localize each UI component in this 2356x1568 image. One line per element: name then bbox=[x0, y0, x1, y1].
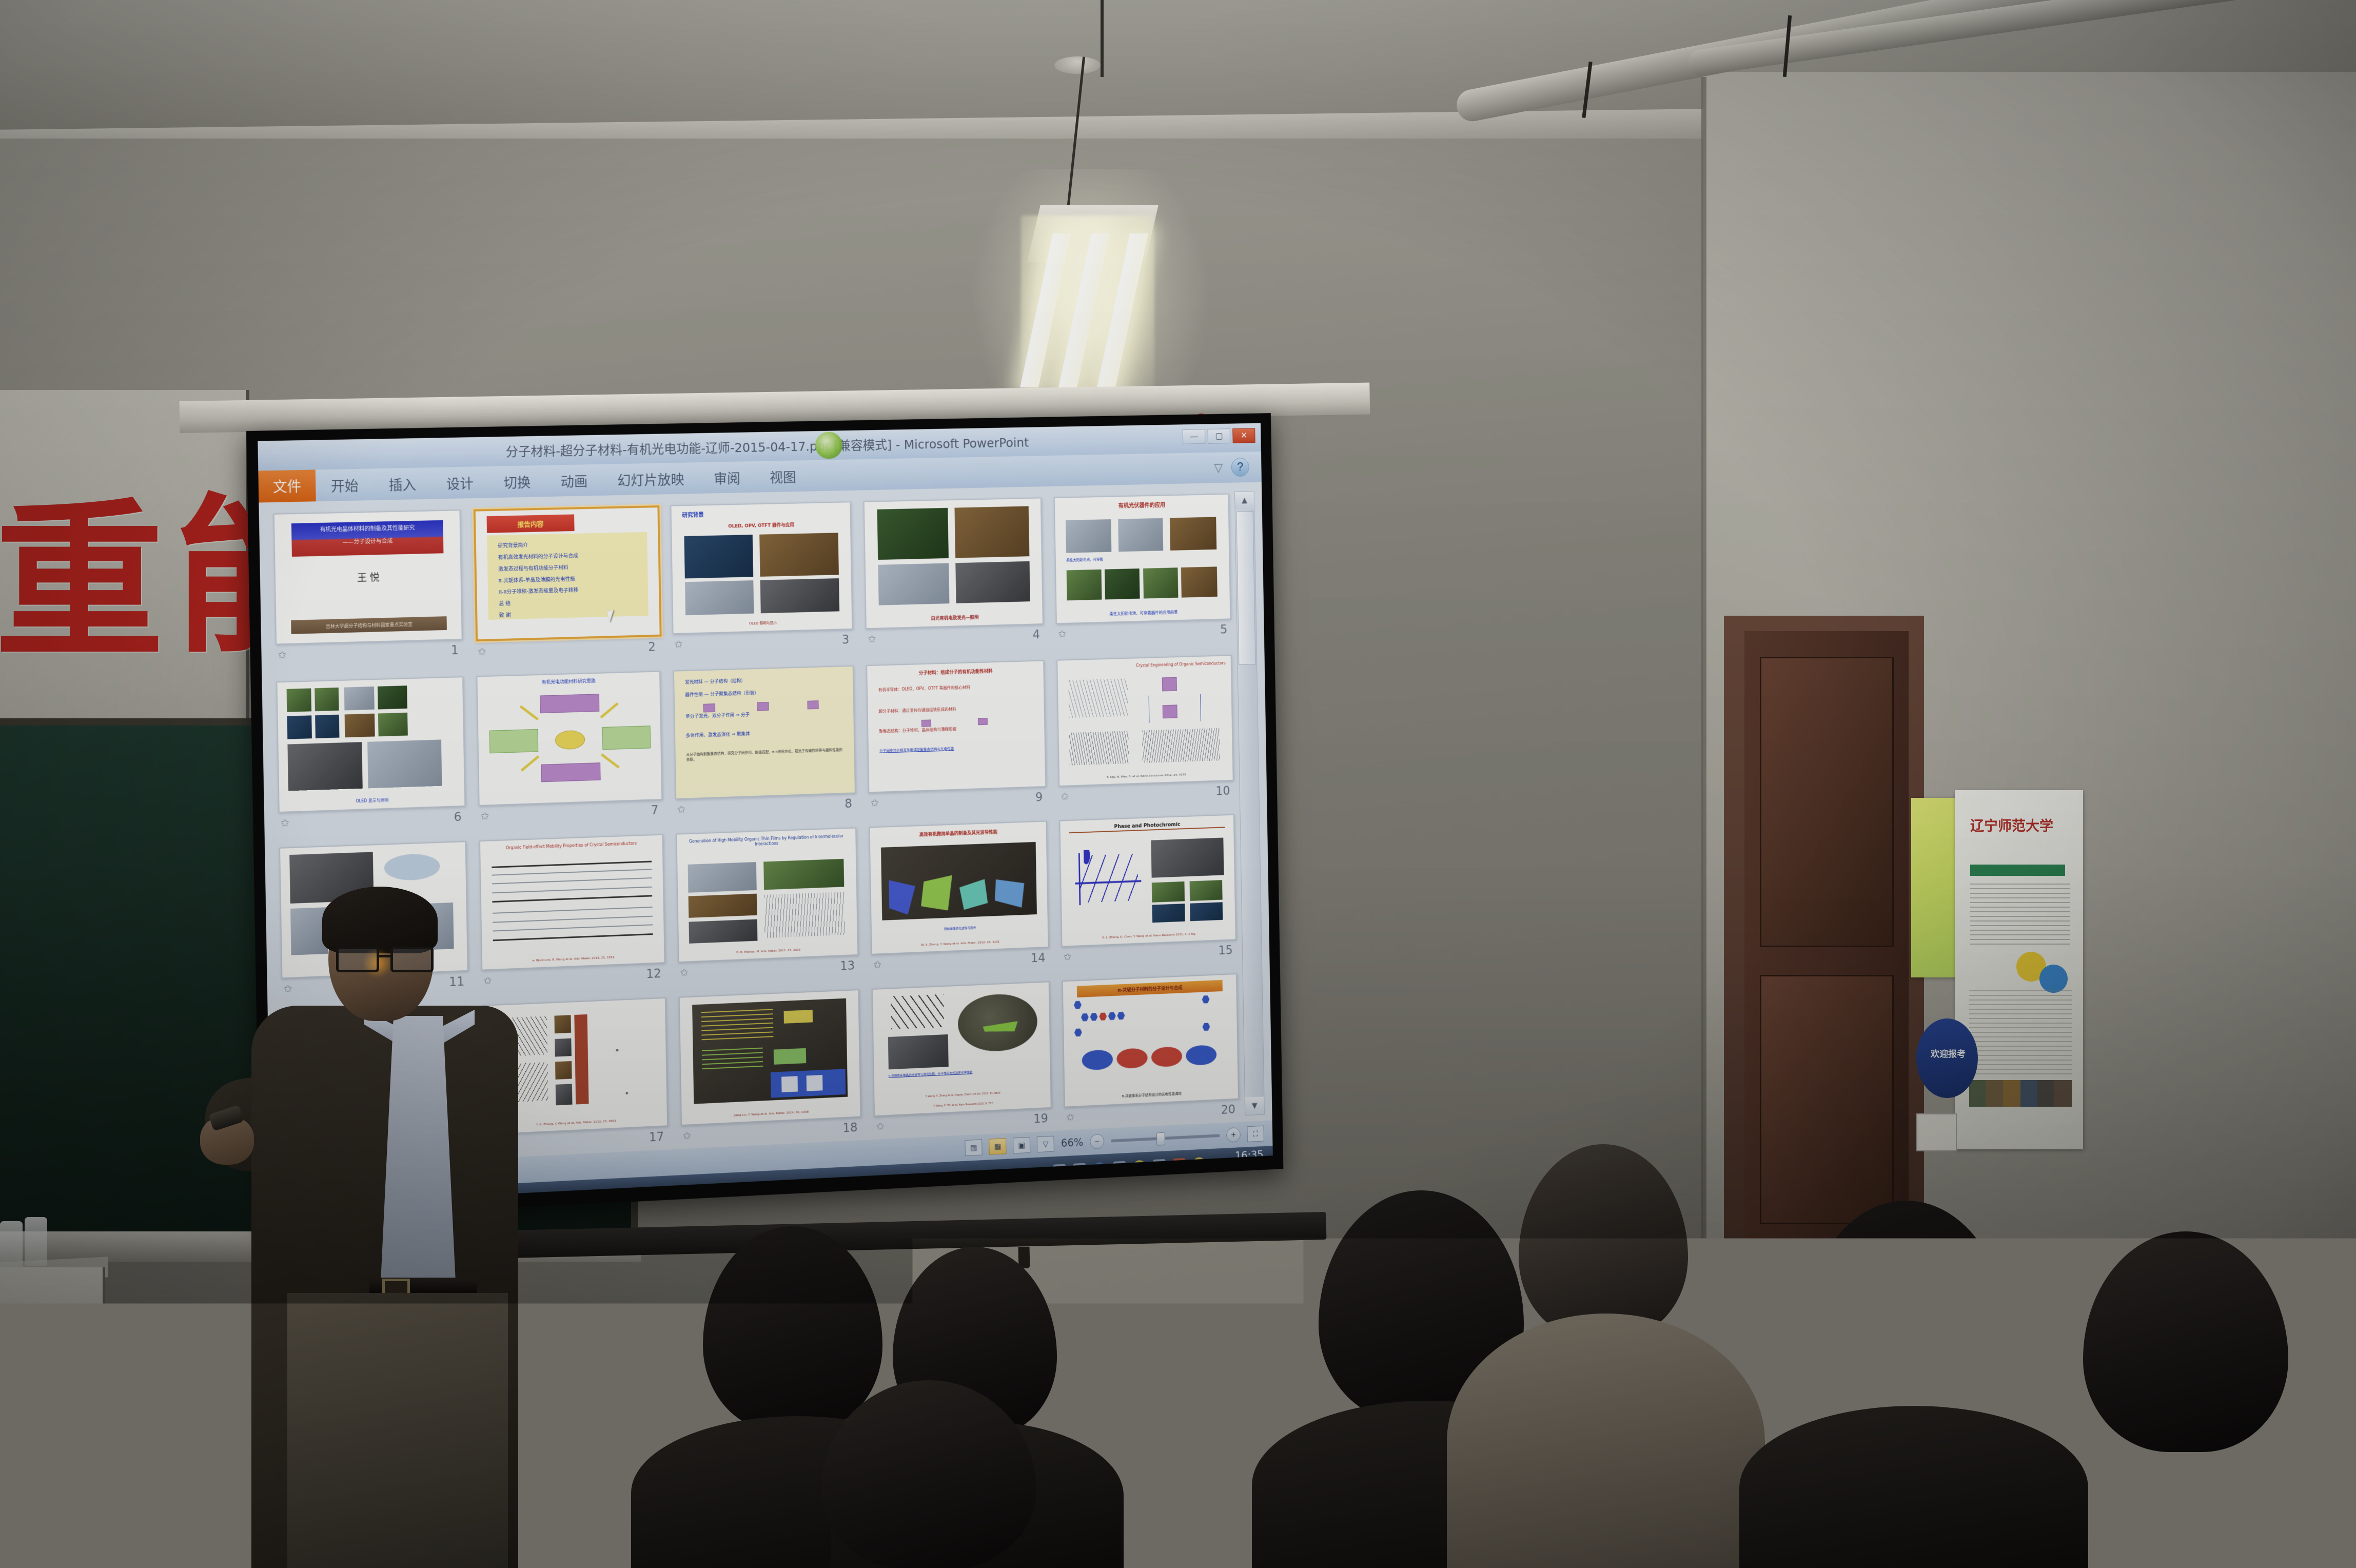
slide-cell: Crystal Engineering of Organic Semicondu… bbox=[1056, 655, 1232, 803]
slide-thumbnail-1[interactable]: 有机光电晶体材料的制备及其性能研究 ——分子设计与合成 王 悦 吉林大学超分子结… bbox=[273, 509, 463, 644]
concept-line: 有机半导体：OLED、OPV、OTFT 等器件的核心材料 bbox=[878, 684, 970, 693]
slide-subheading: OLED, OPV, OTFT 器件与应用 bbox=[672, 520, 851, 531]
animation-icon: ✩ bbox=[683, 1129, 692, 1142]
ceiling-rose bbox=[1054, 56, 1101, 74]
slide-heading: 有机光电功能材料研究思路 bbox=[486, 677, 650, 687]
clock-time: 16:35 bbox=[1235, 1149, 1264, 1162]
animation-icon: ✩ bbox=[1061, 790, 1069, 803]
slide-caption: Y. Wang, Z. Wu et al. Nano Research 2015… bbox=[883, 1100, 1042, 1110]
slide-caption: π-共轭体系分子结构设计的光电性能调控 bbox=[1074, 1089, 1230, 1101]
animation-icon: ✩ bbox=[873, 958, 881, 971]
slide-caption: T. Kaji, N. Wen, S. et al. Nano Structur… bbox=[1068, 772, 1224, 780]
slide-cell: Phase and Photochromic X. L. Zhang, D. C… bbox=[1059, 814, 1235, 964]
slide-caption: Jiang Liu, Y. Wang et al. Adv. Mater. 20… bbox=[691, 1108, 852, 1120]
bullet: 总 结 bbox=[499, 599, 511, 606]
slide-thumbnail-14[interactable]: 高效有机微纳单晶的制备及其光波导性能 微纳单晶的光波导与激光 W. X. Zha… bbox=[869, 821, 1049, 955]
shield-icon[interactable] bbox=[1133, 1160, 1146, 1173]
slide-thumbnail-13[interactable]: Generation of High Mobility Organic Thin… bbox=[676, 828, 859, 963]
water-bottle bbox=[25, 1217, 47, 1266]
glasses-icon bbox=[336, 947, 431, 967]
scroll-down-arrow[interactable]: ▼ bbox=[1245, 1096, 1264, 1115]
slide-cell: π-共轭体系单晶的光波导与激光性能，分子堆积方式决定光学性能 Y. Wang, … bbox=[872, 982, 1050, 1134]
poster-text-block-2 bbox=[1969, 990, 2072, 1075]
slide-number: 11 bbox=[449, 974, 464, 989]
concept-line: 单分子发光、双分子作用 ⇒ 分子 bbox=[685, 711, 750, 719]
slide-heading: 有机光伏器件的应用 bbox=[1055, 499, 1228, 511]
slide-thumbnail-7[interactable]: 有机光电功能材料研究思路 bbox=[476, 671, 662, 806]
slide-cell: 研究背景 OLED, OPV, OTFT 器件与应用 OLED 照明与显示 ✩3 bbox=[670, 501, 852, 653]
slide-thumbnail-2[interactable]: 报告内容 研究背景简介 有机高效发光材料的分子设计与合成 激发态过程与有机功能分… bbox=[474, 505, 662, 641]
slide-thumbnail-19[interactable]: π-共轭体系单晶的光波导与激光性能，分子堆积方式决定光学性能 Y. Wang, … bbox=[872, 981, 1052, 1116]
vertical-scrollbar[interactable]: ▲ ▼ bbox=[1234, 491, 1265, 1115]
animation-icon: ✩ bbox=[1064, 950, 1072, 963]
poster-text-block bbox=[1970, 884, 2070, 945]
reading-view-button[interactable]: ▣ bbox=[1013, 1137, 1030, 1154]
slide-number: 10 bbox=[1215, 784, 1230, 798]
concept-line: 多体作用、激发态演化 ⇒ 聚集体 bbox=[686, 730, 750, 739]
mail-icon[interactable] bbox=[1073, 1163, 1086, 1177]
slide-number: 1 bbox=[451, 643, 459, 657]
slide-caption: Y. Wang, X. Zhang et al. Angew. Chem. In… bbox=[883, 1090, 1042, 1100]
author-name: 王 悦 bbox=[276, 569, 461, 586]
scroll-thumb[interactable] bbox=[1236, 511, 1256, 665]
slide-thumbnail-20[interactable]: π-共轭分子材料的分子设计与合成 π-共轭体系分子结构设计的光电性能调控 bbox=[1062, 973, 1239, 1107]
animation-icon: ✩ bbox=[674, 638, 683, 651]
slide-cell: 高效有机微纳单晶的制备及其光波导性能 微纳单晶的光波导与激光 W. X. Zha… bbox=[869, 821, 1048, 972]
slide-thumbnail-5[interactable]: 有机光伏器件的应用 柔性太阳能电池、可穿戴 柔性太阳能电池、可穿戴器件的应用前景 bbox=[1054, 494, 1231, 624]
maximize-button[interactable]: ▢ bbox=[1208, 428, 1231, 444]
lamp-cable bbox=[1101, 0, 1104, 77]
tab-review[interactable]: 审阅 bbox=[699, 467, 755, 487]
slide-thumbnail-15[interactable]: Phase and Photochromic X. L. Zhang, D. C… bbox=[1059, 814, 1236, 947]
slide-cell: 有机光电功能材料研究思路 ✩7 bbox=[476, 671, 660, 824]
banner-char-1: 重 bbox=[0, 498, 164, 667]
slide-heading: π-共轭分子材料的分子设计与合成 bbox=[1077, 980, 1223, 997]
antivirus-icon[interactable] bbox=[1173, 1158, 1185, 1171]
scroll-up-arrow[interactable]: ▲ bbox=[1235, 492, 1254, 509]
slide-heading: 研究背景 bbox=[682, 511, 704, 519]
slide-caption: 白光有机电致发光—照明 bbox=[875, 612, 1034, 623]
animation-icon: ✩ bbox=[868, 633, 876, 645]
slide-cell: 报告内容 研究背景简介 有机高效发光材料的分子设计与合成 激发态过程与有机功能分… bbox=[474, 505, 658, 659]
slide-heading: Generation of High Mobility Organic Thin… bbox=[686, 834, 847, 850]
slide-caption: D. E. Marcus, M. Adv. Mater. 2011, 23, 2… bbox=[688, 946, 849, 956]
animation-icon: ✩ bbox=[483, 974, 492, 987]
slide-heading: Phase and Photochromic bbox=[1069, 820, 1225, 833]
slide-thumbnail-3[interactable]: 研究背景 OLED, OPV, OTFT 器件与应用 OLED 照明与显示 bbox=[670, 501, 853, 634]
slide-caption: X. L. Zhang, D. Chen, Y. Wang et al. Nan… bbox=[1071, 931, 1227, 940]
poster-badge-blue bbox=[2039, 965, 2068, 993]
slide-note: 分子间非共价相互作用调控聚集态结构与光电性能 bbox=[879, 744, 1034, 754]
slide-number: 12 bbox=[646, 966, 661, 981]
slide-thumbnail-6[interactable]: OLED 显示与照明 bbox=[276, 676, 465, 813]
wall-notice-small bbox=[1916, 1113, 1957, 1151]
tab-insert[interactable]: 插入 bbox=[374, 474, 431, 495]
slide-cell: Jiang Liu, Y. Wang et al. Adv. Mater. 20… bbox=[678, 989, 859, 1143]
slide-number: 4 bbox=[1032, 628, 1040, 641]
slide-heading: Organic Field-effect Mobility Properties… bbox=[489, 840, 653, 851]
zoom-level-label[interactable]: 66% bbox=[1061, 1136, 1084, 1149]
cn-input-icon[interactable] bbox=[1053, 1164, 1066, 1178]
slide-thumbnail-10[interactable]: Crystal Engineering of Organic Semicondu… bbox=[1056, 655, 1233, 787]
animation-icon: ✩ bbox=[478, 645, 486, 658]
slide-thumbnail-8[interactable]: 发光材料 — 分子结构（结构） 器件性能 — 分子聚集态结构（形貌） 单分子发光… bbox=[673, 665, 856, 799]
presenter-trousers bbox=[287, 1293, 508, 1568]
fit-to-window-button[interactable]: ⛶ bbox=[1247, 1126, 1264, 1142]
zoom-slider-handle[interactable] bbox=[1156, 1132, 1165, 1146]
door-panel-middle bbox=[1760, 975, 1894, 1224]
slide-number: 18 bbox=[842, 1121, 857, 1135]
poster-badge-text: 欢迎报考 bbox=[1925, 1047, 1971, 1060]
slide-number: 9 bbox=[1035, 790, 1043, 805]
office-orb-icon bbox=[815, 432, 842, 459]
concept-line: 发光材料 — 分子结构（结构） bbox=[685, 677, 745, 685]
bullet: 致 谢 bbox=[499, 611, 511, 618]
slide-number: 3 bbox=[842, 633, 850, 647]
help-icon[interactable]: ? bbox=[1231, 458, 1249, 477]
window-title: 分子材料-超分子材料-有机光电功能-辽师-2015-04-17.ppt [兼容模… bbox=[505, 433, 1029, 460]
animation-icon: ✩ bbox=[278, 648, 286, 661]
animation-icon: ✩ bbox=[281, 816, 289, 830]
concept-line: 超分子材料：通过非共价键自组装形成的材料 bbox=[879, 706, 956, 714]
slide-cell: 有机光伏器件的应用 柔性太阳能电池、可穿戴 柔性太阳能电池、可穿戴器件的应用前景… bbox=[1054, 494, 1229, 643]
slide-cell: 白光有机电致发光—照明 ✩4 bbox=[863, 498, 1042, 648]
slide-number: 8 bbox=[845, 796, 852, 811]
slide-note: 柔性太阳能电池、可穿戴 bbox=[1066, 557, 1103, 563]
network-icon[interactable] bbox=[1093, 1162, 1106, 1175]
tab-transitions[interactable]: 切换 bbox=[488, 471, 546, 492]
slide-caption: W. X. Zhang, Y. Wang et al. Adv. Mater. … bbox=[881, 938, 1039, 948]
door-panel-upper bbox=[1760, 657, 1894, 947]
cycle-node bbox=[540, 694, 599, 714]
slide-number: 17 bbox=[649, 1129, 664, 1144]
concept-line: 聚集态结构：分子堆积、晶体结构与薄膜形貌 bbox=[879, 726, 956, 734]
slideshow-view-button[interactable]: ▽ bbox=[1037, 1136, 1054, 1153]
affiliation: 吉林大学超分子结构与材料国家重点实验室 bbox=[291, 616, 446, 634]
close-button[interactable]: ✕ bbox=[1232, 428, 1255, 443]
ribbon-right-controls: ▽ ? bbox=[1214, 458, 1262, 477]
slide-number: 14 bbox=[1031, 951, 1046, 965]
slide-thumbnail-4[interactable]: 白光有机电致发光—照明 bbox=[863, 498, 1044, 630]
poster-subtitle-band bbox=[1970, 865, 2065, 876]
zoom-slider[interactable] bbox=[1111, 1134, 1220, 1142]
animation-icon: ✩ bbox=[284, 982, 292, 995]
tab-animations[interactable]: 动画 bbox=[545, 470, 602, 491]
slide-cell: π-共轭分子材料的分子设计与合成 π-共轭体系分子结构设计的光电性能调控 bbox=[1062, 973, 1238, 1124]
concept-line: 分子材料：组成分子的有机功能性材料 bbox=[868, 666, 1044, 677]
slide-cell: OLED 显示与照明 ✩6 bbox=[276, 676, 463, 830]
slide-cell: 分子材料：组成分子的有机功能性材料 有机半导体：OLED、OPV、OTFT 等器… bbox=[867, 660, 1045, 810]
volume-icon[interactable] bbox=[1113, 1161, 1126, 1174]
slide-thumbnail-12[interactable]: Organic Field-effect Mobility Properties… bbox=[479, 834, 665, 971]
update-icon[interactable] bbox=[1193, 1157, 1205, 1170]
audience-shoulders bbox=[2016, 1432, 2356, 1568]
tab-slideshow[interactable]: 幻灯片放映 bbox=[602, 468, 699, 489]
contents-heading: 报告内容 bbox=[486, 515, 574, 533]
tab-design[interactable]: 设计 bbox=[431, 472, 488, 493]
zoom-out-button[interactable]: − bbox=[1090, 1134, 1104, 1149]
slide-sorter-view-button[interactable]: ▦ bbox=[989, 1138, 1007, 1155]
animation-icon: ✩ bbox=[1058, 628, 1066, 640]
water-bottle bbox=[0, 1221, 23, 1270]
slide-caption: OLED 显示与照明 bbox=[289, 795, 455, 807]
cycle-node bbox=[541, 763, 600, 782]
slide-number: 15 bbox=[1218, 943, 1232, 957]
classroom-photo-scene: 重 能 辽宁师范大学 欢迎报考 投影幕 分子材料-超分子材料-有机光电功能-辽师… bbox=[0, 0, 2356, 1568]
slide-cell: 有机光电晶体材料的制备及其性能研究 ——分子设计与合成 王 悦 吉林大学超分子结… bbox=[273, 509, 461, 664]
slide-number: 20 bbox=[1221, 1102, 1235, 1116]
slide-heading: 高效有机微纳单晶的制备及其光波导性能 bbox=[870, 827, 1046, 839]
slide-note: π-共轭体系单晶的光波导与激光性能，分子堆积方式决定光学性能 bbox=[889, 1068, 1038, 1079]
concept-line: 器件性能 — 分子聚集态结构（形貌） bbox=[685, 689, 759, 698]
minimize-ribbon-icon[interactable]: ▽ bbox=[1214, 460, 1223, 475]
tab-home[interactable]: 开始 bbox=[316, 475, 374, 496]
animation-icon: ✩ bbox=[677, 803, 686, 816]
audience-shoulders bbox=[1447, 1314, 1765, 1568]
window-controls: — ▢ ✕ bbox=[1183, 428, 1255, 444]
cycle-node bbox=[602, 726, 651, 750]
tab-file[interactable]: 文件 bbox=[258, 469, 316, 502]
animation-icon: ✩ bbox=[680, 966, 689, 979]
slide-cell: 发光材料 — 分子结构（结构） 器件性能 — 分子聚集态结构（形貌） 单分子发光… bbox=[673, 665, 854, 816]
slide-number: 13 bbox=[840, 958, 855, 973]
poster-title: 辽宁师范大学 bbox=[1970, 818, 2073, 834]
zoom-in-button[interactable]: + bbox=[1226, 1127, 1241, 1143]
slide-heading: Crystal Engineering of Organic Semicondu… bbox=[1136, 661, 1226, 669]
slide-thumbnail-9[interactable]: 分子材料：组成分子的有机功能性材料 有机半导体：OLED、OPV、OTFT 等器… bbox=[867, 660, 1047, 793]
bullet: 研究背景简介 bbox=[498, 541, 528, 549]
slide-cell: Organic Field-effect Mobility Properties… bbox=[479, 834, 663, 988]
battery-icon[interactable] bbox=[1153, 1159, 1166, 1172]
poster-photo-strip bbox=[1969, 1080, 2072, 1107]
door-handle[interactable] bbox=[1760, 1262, 1801, 1270]
minimize-button[interactable]: — bbox=[1183, 429, 1206, 444]
slide-note: 微纳单晶的光波导与激光 bbox=[880, 923, 1039, 933]
concept-body: 从分子结构到聚集态结构，研究分子间作用、能级匹配、π-π堆积方式、载流子传输性质… bbox=[686, 748, 843, 762]
slide-caption: OLED 照明与显示 bbox=[682, 619, 843, 628]
slide-number: 6 bbox=[454, 810, 461, 824]
slide-cell: Generation of High Mobility Organic Thin… bbox=[676, 828, 857, 980]
cycle-node bbox=[489, 729, 538, 753]
podium bbox=[0, 1267, 105, 1568]
animation-icon: ✩ bbox=[481, 810, 489, 822]
slide-number: 7 bbox=[651, 803, 658, 817]
presenter-hair bbox=[322, 887, 438, 953]
animation-icon: ✩ bbox=[876, 1120, 884, 1133]
slide-caption: Y. X. Zhang, Y. Wang et al. Adv. Mater. … bbox=[494, 1117, 658, 1128]
animation-icon: ✩ bbox=[871, 796, 879, 809]
slide-caption: e. Bjorklund, R. Wang et al. Adv. Mater.… bbox=[492, 954, 655, 964]
slide-number: 2 bbox=[648, 640, 656, 654]
slide-number: 19 bbox=[1033, 1111, 1048, 1126]
slide-number: 5 bbox=[1220, 622, 1227, 636]
normal-view-button[interactable]: ▤ bbox=[965, 1139, 983, 1156]
tab-view[interactable]: 视图 bbox=[755, 466, 811, 486]
animation-icon: ✩ bbox=[1066, 1111, 1074, 1124]
slide-caption: 柔性太阳能电池、可穿戴器件的应用前景 bbox=[1066, 609, 1222, 618]
slide-thumbnail-18[interactable]: Jiang Liu, Y. Wang et al. Adv. Mater. 20… bbox=[678, 989, 861, 1126]
